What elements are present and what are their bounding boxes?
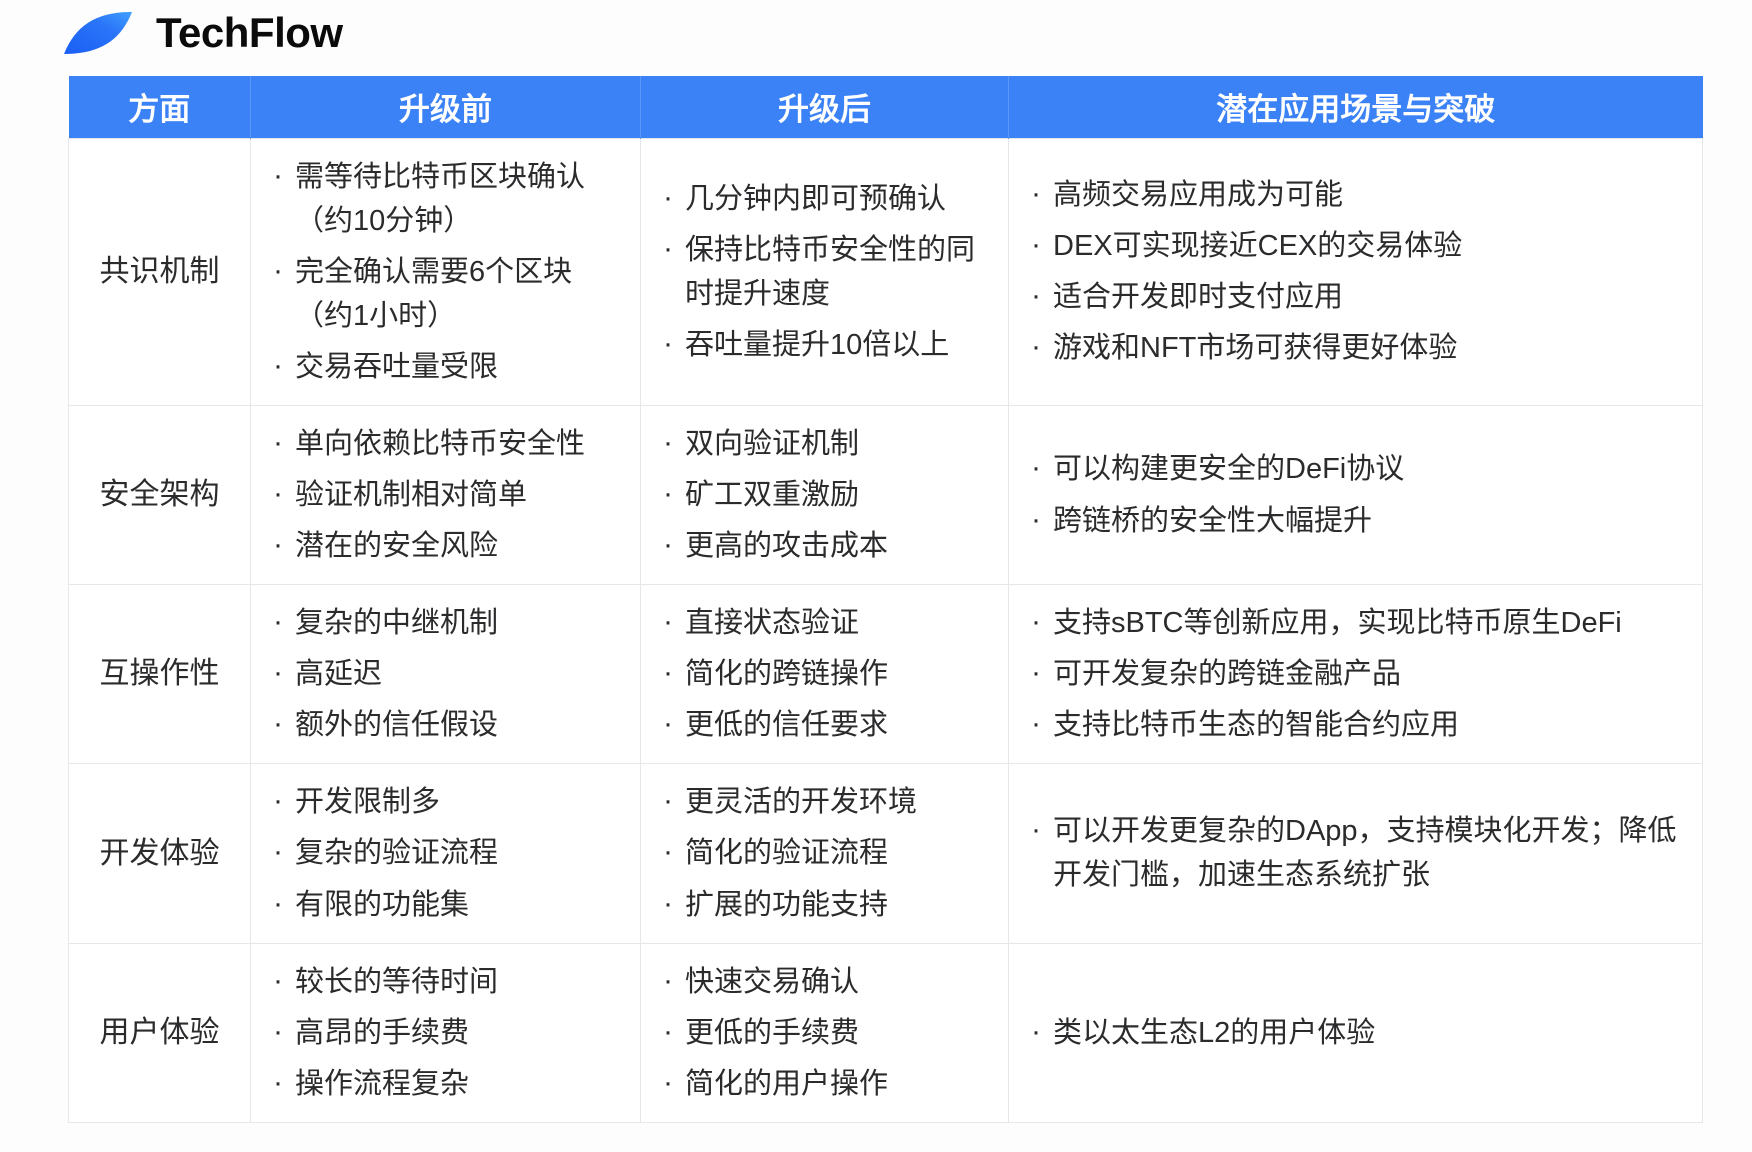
bullet-item: 复杂的验证流程 xyxy=(269,831,628,875)
bullet-item: 简化的验证流程 xyxy=(659,831,996,875)
bullet-item: 类以太生态L2的用户体验 xyxy=(1027,1011,1690,1055)
bullet-item: 简化的跨链操作 xyxy=(659,652,996,696)
bullet-item: 更低的信任要求 xyxy=(659,703,996,747)
cell-before-upgrade: 需等待比特币区块确认（约10分钟）完全确认需要6个区块（约1小时）交易吞吐量受限 xyxy=(251,138,641,405)
bullet-list: 可以构建更安全的DeFi协议跨链桥的安全性大幅提升 xyxy=(1027,447,1690,542)
column-header-aspect: 方面 xyxy=(69,76,251,138)
leaf-lens-icon xyxy=(62,8,134,58)
cell-before-upgrade: 复杂的中继机制高延迟额外的信任假设 xyxy=(251,585,641,764)
cell-after-upgrade: 更灵活的开发环境简化的验证流程扩展的功能支持 xyxy=(641,764,1009,943)
bullet-item: 支持sBTC等创新应用，实现比特币原生DeFi xyxy=(1027,601,1690,645)
bullet-item: 更低的手续费 xyxy=(659,1011,996,1055)
bullet-item: 高频交易应用成为可能 xyxy=(1027,173,1690,217)
cell-after-upgrade: 快速交易确认更低的手续费简化的用户操作 xyxy=(641,943,1009,1122)
bullet-list: 复杂的中继机制高延迟额外的信任假设 xyxy=(269,601,628,747)
bullet-item: 游戏和NFT市场可获得更好体验 xyxy=(1027,326,1690,370)
bullet-item: 复杂的中继机制 xyxy=(269,601,628,645)
bullet-item: 完全确认需要6个区块（约1小时） xyxy=(269,250,628,338)
bullet-item: 适合开发即时支付应用 xyxy=(1027,275,1690,319)
cell-potential-applications: 高频交易应用成为可能DEX可实现接近CEX的交易体验适合开发即时支付应用游戏和N… xyxy=(1009,138,1703,405)
table-row: 互操作性复杂的中继机制高延迟额外的信任假设直接状态验证简化的跨链操作更低的信任要… xyxy=(69,585,1703,764)
bullet-list: 需等待比特币区块确认（约10分钟）完全确认需要6个区块（约1小时）交易吞吐量受限 xyxy=(269,155,628,389)
column-header-before-upgrade: 升级前 xyxy=(251,76,641,138)
bullet-item: 吞吐量提升10倍以上 xyxy=(659,323,996,367)
bullet-item: 可以构建更安全的DeFi协议 xyxy=(1027,447,1690,491)
cell-aspect: 用户体验 xyxy=(69,943,251,1122)
cell-potential-applications: 支持sBTC等创新应用，实现比特币原生DeFi可开发复杂的跨链金融产品支持比特币… xyxy=(1009,585,1703,764)
bullet-list: 双向验证机制矿工双重激励更高的攻击成本 xyxy=(659,422,996,568)
bullet-item: 开发限制多 xyxy=(269,780,628,824)
bullet-item: 高昂的手续费 xyxy=(269,1011,628,1055)
bullet-list: 高频交易应用成为可能DEX可实现接近CEX的交易体验适合开发即时支付应用游戏和N… xyxy=(1027,173,1690,370)
column-header-after-upgrade: 升级后 xyxy=(641,76,1009,138)
cell-before-upgrade: 较长的等待时间高昂的手续费操作流程复杂 xyxy=(251,943,641,1122)
cell-potential-applications: 可以开发更复杂的DApp，支持模块化开发；降低开发门槛，加速生态系统扩张 xyxy=(1009,764,1703,943)
bullet-item: 可开发复杂的跨链金融产品 xyxy=(1027,652,1690,696)
bullet-item: 直接状态验证 xyxy=(659,601,996,645)
bullet-list: 单向依赖比特币安全性验证机制相对简单潜在的安全风险 xyxy=(269,422,628,568)
bullet-list: 可以开发更复杂的DApp，支持模块化开发；降低开发门槛，加速生态系统扩张 xyxy=(1027,809,1690,897)
cell-aspect: 互操作性 xyxy=(69,585,251,764)
cell-aspect: 共识机制 xyxy=(69,138,251,405)
bullet-item: 可以开发更复杂的DApp，支持模块化开发；降低开发门槛，加速生态系统扩张 xyxy=(1027,809,1690,897)
bullet-item: 几分钟内即可预确认 xyxy=(659,177,996,221)
brand-header: TechFlow xyxy=(0,0,1752,62)
cell-after-upgrade: 几分钟内即可预确认保持比特币安全性的同时提升速度吞吐量提升10倍以上 xyxy=(641,138,1009,405)
cell-aspect: 安全架构 xyxy=(69,405,251,584)
bullet-item: 需等待比特币区块确认（约10分钟） xyxy=(269,155,628,243)
cell-after-upgrade: 直接状态验证简化的跨链操作更低的信任要求 xyxy=(641,585,1009,764)
bullet-item: 保持比特币安全性的同时提升速度 xyxy=(659,228,996,316)
bullet-item: 更灵活的开发环境 xyxy=(659,780,996,824)
bullet-item: 双向验证机制 xyxy=(659,422,996,466)
table-row: 安全架构单向依赖比特币安全性验证机制相对简单潜在的安全风险双向验证机制矿工双重激… xyxy=(69,405,1703,584)
bullet-item: 快速交易确认 xyxy=(659,960,996,1004)
cell-before-upgrade: 开发限制多复杂的验证流程有限的功能集 xyxy=(251,764,641,943)
table-row: 共识机制需等待比特币区块确认（约10分钟）完全确认需要6个区块（约1小时）交易吞… xyxy=(69,138,1703,405)
bullet-item: 验证机制相对简单 xyxy=(269,473,628,517)
bullet-list: 快速交易确认更低的手续费简化的用户操作 xyxy=(659,960,996,1106)
bullet-item: 更高的攻击成本 xyxy=(659,524,996,568)
bullet-list: 直接状态验证简化的跨链操作更低的信任要求 xyxy=(659,601,996,747)
bullet-item: 操作流程复杂 xyxy=(269,1062,628,1106)
bullet-list: 类以太生态L2的用户体验 xyxy=(1027,1011,1690,1055)
bullet-item: 交易吞吐量受限 xyxy=(269,345,628,389)
brand-name: TechFlow xyxy=(156,12,343,54)
bullet-item: 简化的用户操作 xyxy=(659,1062,996,1106)
bullet-item: 单向依赖比特币安全性 xyxy=(269,422,628,466)
bullet-list: 几分钟内即可预确认保持比特币安全性的同时提升速度吞吐量提升10倍以上 xyxy=(659,177,996,367)
bullet-item: 支持比特币生态的智能合约应用 xyxy=(1027,703,1690,747)
bullet-item: DEX可实现接近CEX的交易体验 xyxy=(1027,224,1690,268)
bullet-list: 较长的等待时间高昂的手续费操作流程复杂 xyxy=(269,960,628,1106)
bullet-item: 矿工双重激励 xyxy=(659,473,996,517)
comparison-table: 方面 升级前 升级后 潜在应用场景与突破 共识机制需等待比特币区块确认（约10分… xyxy=(68,76,1703,1123)
table-row: 开发体验开发限制多复杂的验证流程有限的功能集更灵活的开发环境简化的验证流程扩展的… xyxy=(69,764,1703,943)
bullet-list: 更灵活的开发环境简化的验证流程扩展的功能支持 xyxy=(659,780,996,926)
bullet-list: 开发限制多复杂的验证流程有限的功能集 xyxy=(269,780,628,926)
cell-potential-applications: 类以太生态L2的用户体验 xyxy=(1009,943,1703,1122)
cell-after-upgrade: 双向验证机制矿工双重激励更高的攻击成本 xyxy=(641,405,1009,584)
bullet-item: 跨链桥的安全性大幅提升 xyxy=(1027,499,1690,543)
comparison-table-container: 方面 升级前 升级后 潜在应用场景与突破 共识机制需等待比特币区块确认（约10分… xyxy=(0,62,1752,1123)
bullet-item: 有限的功能集 xyxy=(269,883,628,927)
header-row: 方面 升级前 升级后 潜在应用场景与突破 xyxy=(69,76,1703,138)
bullet-item: 较长的等待时间 xyxy=(269,960,628,1004)
column-header-potential-applications: 潜在应用场景与突破 xyxy=(1009,76,1703,138)
bullet-item: 扩展的功能支持 xyxy=(659,883,996,927)
table-row: 用户体验较长的等待时间高昂的手续费操作流程复杂快速交易确认更低的手续费简化的用户… xyxy=(69,943,1703,1122)
bullet-list: 支持sBTC等创新应用，实现比特币原生DeFi可开发复杂的跨链金融产品支持比特币… xyxy=(1027,601,1690,747)
table-header: 方面 升级前 升级后 潜在应用场景与突破 xyxy=(69,76,1703,138)
cell-aspect: 开发体验 xyxy=(69,764,251,943)
bullet-item: 高延迟 xyxy=(269,652,628,696)
table-body: 共识机制需等待比特币区块确认（约10分钟）完全确认需要6个区块（约1小时）交易吞… xyxy=(69,138,1703,1122)
bullet-item: 潜在的安全风险 xyxy=(269,524,628,568)
cell-potential-applications: 可以构建更安全的DeFi协议跨链桥的安全性大幅提升 xyxy=(1009,405,1703,584)
bullet-item: 额外的信任假设 xyxy=(269,703,628,747)
cell-before-upgrade: 单向依赖比特币安全性验证机制相对简单潜在的安全风险 xyxy=(251,405,641,584)
